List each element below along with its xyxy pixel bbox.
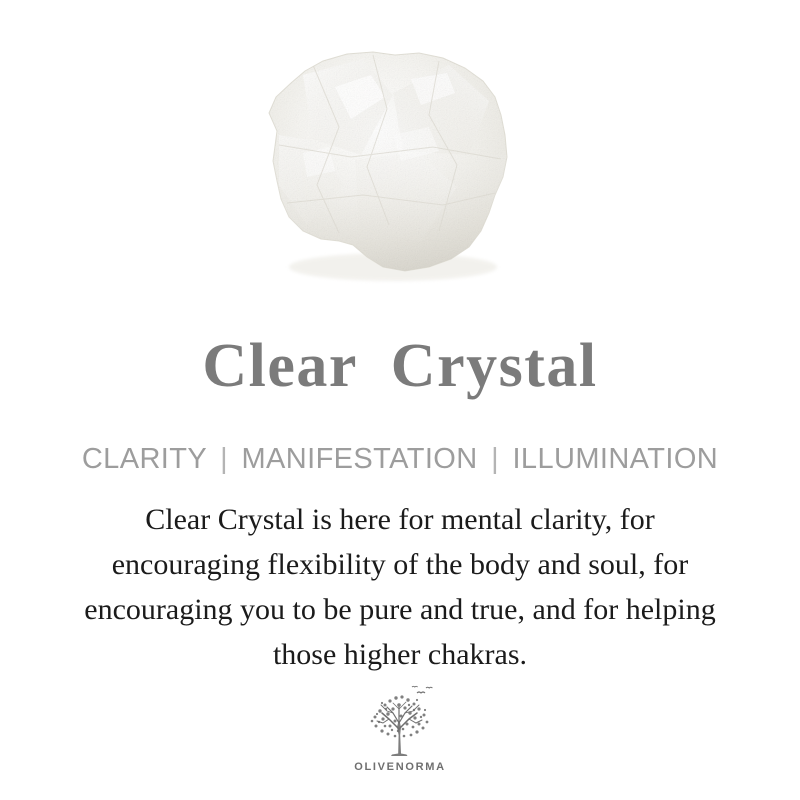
description-line: encouraging you to be pure and true, and… [40, 587, 760, 632]
keyword-illumination: ILLUMINATION [512, 443, 718, 475]
tree-logo-icon [357, 683, 443, 759]
product-description: Clear Crystal is here for mental clarity… [40, 497, 760, 677]
description-line: those higher chakras. [40, 632, 760, 677]
product-keywords: CLARITY | MANIFESTATION | ILLUMINATION [0, 443, 800, 476]
brand-logo: OLIVENORMA [0, 683, 800, 773]
description-line: encouraging flexibility of the body and … [40, 542, 760, 587]
brand-name: OLIVENORMA [354, 761, 446, 773]
birds-icon [412, 686, 432, 693]
keyword-separator: | [486, 443, 504, 475]
product-title: Clear Crystal [0, 332, 800, 400]
product-card: Clear Crystal CLARITY | MANIFESTATION | … [0, 0, 800, 800]
keyword-manifestation: MANIFESTATION [241, 443, 477, 475]
description-line: Clear Crystal is here for mental clarity… [40, 497, 760, 542]
keyword-clarity: CLARITY [82, 443, 207, 475]
keyword-separator: | [215, 443, 233, 475]
clear-crystal-stone-icon [243, 35, 533, 295]
crystal-texture [243, 35, 533, 295]
crystal-product-image [243, 35, 533, 295]
